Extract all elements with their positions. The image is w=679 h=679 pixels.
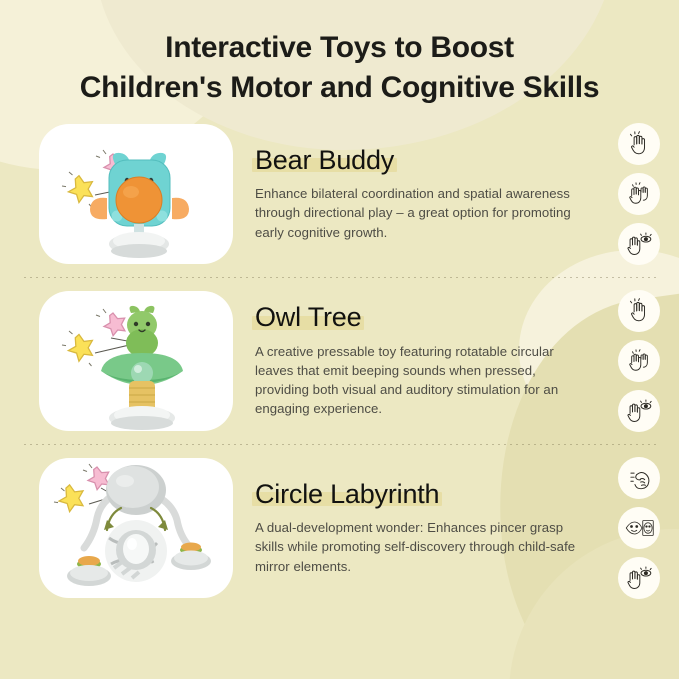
hand-tapping-icon — [626, 298, 652, 324]
benefit-icon-rail — [607, 457, 679, 599]
product-title: Circle Labyrinth — [255, 479, 439, 509]
product-row: Bear Buddy Enhance bilateral coordinatio… — [0, 114, 679, 274]
product-image-card — [39, 124, 233, 264]
hand-eye-icon — [626, 231, 652, 257]
product-image-card — [39, 458, 233, 598]
poster-header: Interactive Toys to Boost Children's Mot… — [0, 0, 679, 114]
two-hands-icon — [626, 348, 652, 374]
product-title: Owl Tree — [255, 302, 361, 332]
labyrinth-toy — [67, 465, 211, 586]
benefit-badge — [618, 457, 660, 499]
star-pink-icon — [104, 313, 125, 336]
circle-labyrinth-illustration — [39, 458, 233, 598]
star-pink-icon — [88, 467, 109, 490]
product-title-wrap: Bear Buddy — [255, 146, 394, 176]
hand-tapping-icon — [626, 131, 652, 157]
product-title: Bear Buddy — [255, 145, 394, 175]
product-sections: Bear Buddy Enhance bilateral coordinatio… — [0, 114, 679, 608]
product-row: Circle Labyrinth A dual-development wond… — [0, 448, 679, 608]
two-hands-icon — [626, 181, 652, 207]
bear-toy — [90, 153, 189, 258]
product-description: A creative pressable toy featuring rotat… — [255, 342, 585, 419]
benefit-badge — [618, 390, 660, 432]
product-title-wrap: Owl Tree — [255, 303, 361, 333]
bear-buddy-illustration — [39, 124, 233, 264]
star-yellow-icon — [68, 175, 92, 202]
benefit-badge — [618, 223, 660, 265]
benefit-badge — [618, 123, 660, 165]
benefit-badge — [618, 507, 660, 549]
product-title-wrap: Circle Labyrinth — [255, 480, 439, 510]
product-image-card — [39, 291, 233, 431]
benefit-badge — [618, 557, 660, 599]
sparkle-ticks — [62, 309, 106, 366]
benefit-badge — [618, 290, 660, 332]
product-description: A dual-development wonder: Enhances pinc… — [255, 518, 585, 576]
product-text: Owl Tree A creative pressable toy featur… — [233, 303, 607, 419]
benefit-badge — [618, 340, 660, 382]
page-title: Interactive Toys to Boost Children's Mot… — [40, 28, 639, 108]
benefit-icon-rail — [607, 123, 679, 265]
product-row: Owl Tree A creative pressable toy featur… — [0, 281, 679, 441]
hand-eye-icon — [626, 398, 652, 424]
pinching-hand-icon — [626, 465, 652, 491]
product-text: Bear Buddy Enhance bilateral coordinatio… — [233, 146, 607, 242]
benefit-badge — [618, 173, 660, 215]
section-divider — [22, 444, 657, 445]
poster-root: Interactive Toys to Boost Children's Mot… — [0, 0, 679, 679]
hand-eye-icon — [626, 565, 652, 591]
page-title-line-2: Children's Motor and Cognitive Skills — [40, 68, 639, 108]
star-yellow-icon — [68, 334, 92, 361]
page-title-line-1: Interactive Toys to Boost — [165, 31, 514, 64]
face-mirror-icon — [624, 516, 654, 540]
section-divider — [22, 277, 657, 278]
owl-tree-illustration — [39, 291, 233, 431]
product-text: Circle Labyrinth A dual-development wond… — [233, 480, 607, 576]
product-description: Enhance bilateral coordination and spati… — [255, 184, 585, 242]
benefit-icon-rail — [607, 290, 679, 432]
